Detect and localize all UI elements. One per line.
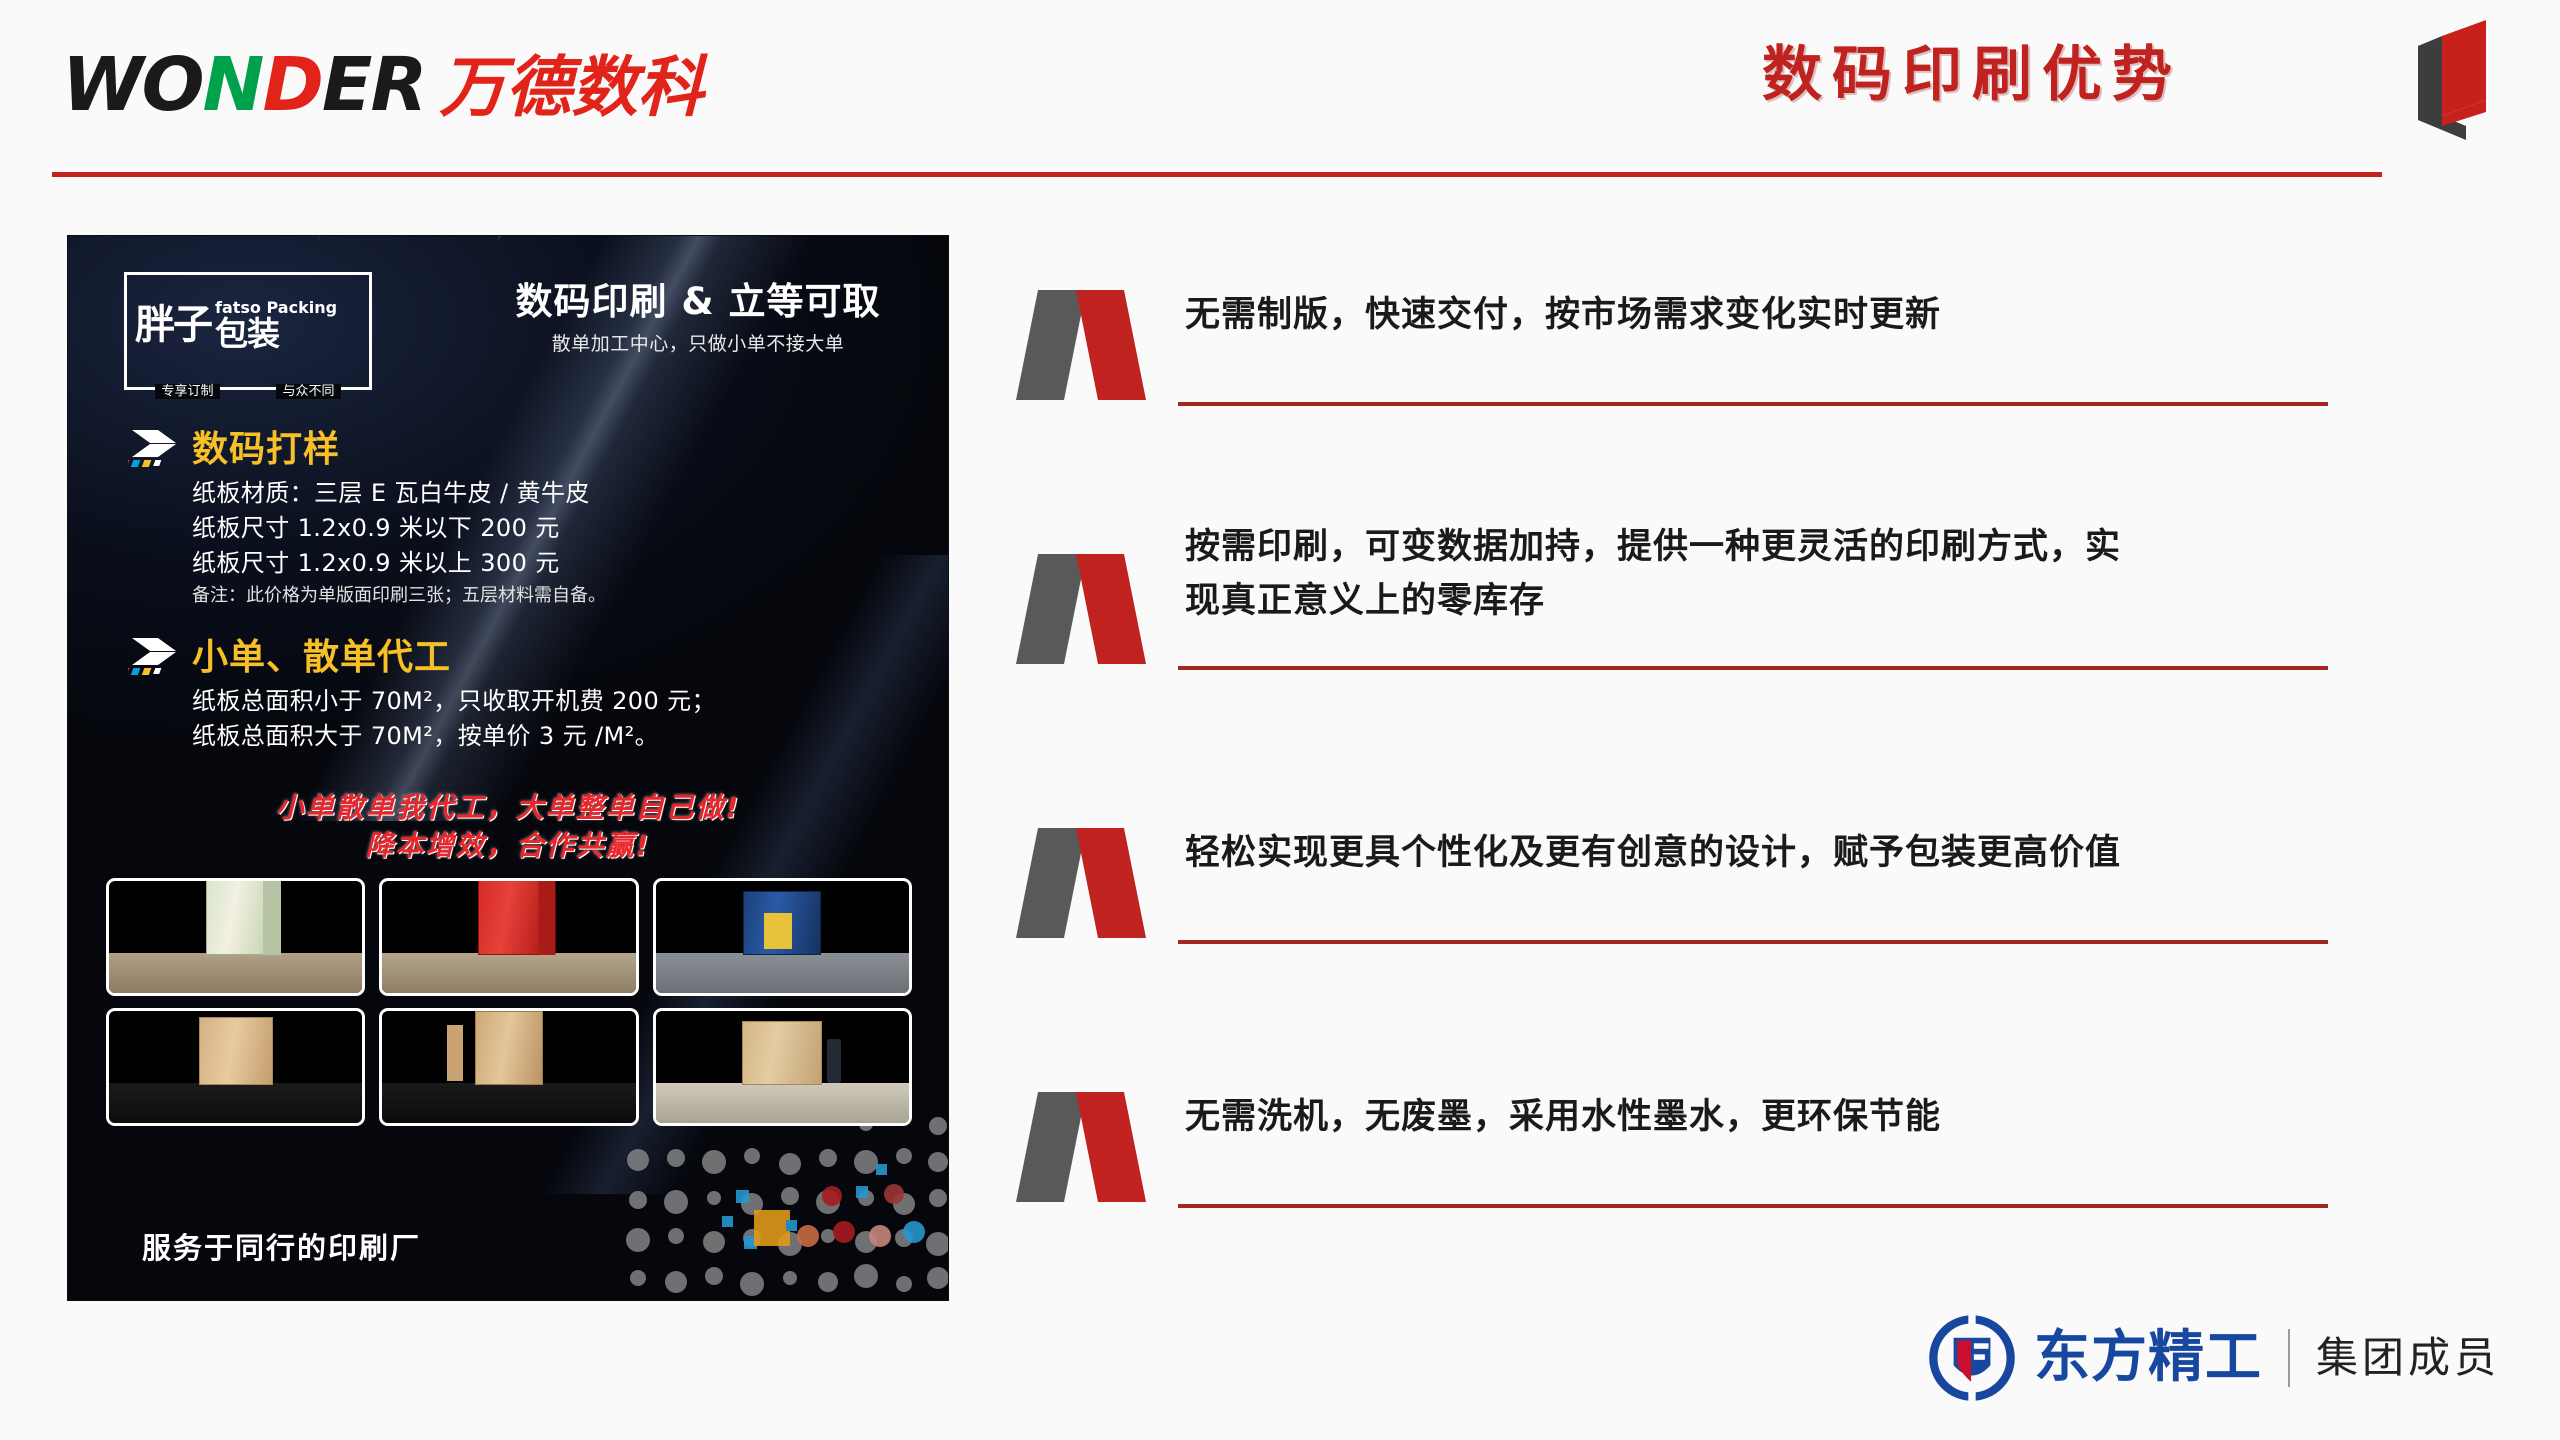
logo-divider [2288,1329,2290,1387]
poster-section-1-title-row: 数码打样 [128,428,928,472]
fatso-logo-main: 胖子 [135,305,211,345]
poster-headline-group: 数码印刷 & 立等可取 散单加工中心，只做小单不接大单 [468,280,928,358]
group-member-label: 集团成员 [2316,1335,2500,1381]
bullet-underline [1178,402,2328,406]
poster-section-small-orders: 小单、散单代工 纸板总面积小于 70M²，只收取开机费 200 元； 纸板总面积… [128,636,928,754]
fatso-packing-logo: 胖子 fatso Packing 包装 专享订制 与众不同 [124,272,372,390]
product-photo-grid [106,878,912,1126]
bullet-item-eco-friendly: 无需洗机，无废墨，采用水性墨水，更环保节能 [1010,1090,2340,1152]
poster-section-1-line-2: 纸板尺寸 1.2x0.9 米以下 200 元 [192,511,928,546]
bullet-line: 轻松实现更具个性化及更有创意的设计，赋予包装更高价值 [1185,826,2340,880]
bullet-line: 无需制版，快速交付，按市场需求变化实时更新 [1185,288,2340,342]
poster-section-1-title: 数码打样 [192,429,340,471]
poster-footer-text: 服务于同行的印刷厂 [142,1230,421,1266]
brand-chinese-name: 万德数科 [439,55,703,121]
wonder-letter-o: O [142,48,203,122]
bullet-item-no-plate-fast-delivery: 无需制版，快速交付，按市场需求变化实时更新 [1010,288,2340,350]
poster-slogan-line-1: 小单散单我代工，大单整单自己做! [68,788,948,828]
double-slash-marker-icon [1010,1090,1190,1210]
product-photo-beef-box [653,878,912,996]
bullet-text: 无需制版，快速交付，按市场需求变化实时更新 [1185,288,2340,350]
page-title: 数码印刷优势 [1762,42,2182,108]
bullet-underline [1178,940,2328,944]
poster-section-1-note: 备注：此价格为单版面印刷三张；五层材料需自备。 [192,581,928,611]
poster-section-1-line-1: 纸板材质：三层 E 瓦白牛皮 / 黄牛皮 [192,476,928,511]
poster-subheadline: 散单加工中心，只做小单不接大单 [468,330,928,358]
wonder-letter-w: W [62,48,142,122]
wonder-letter-n: N [203,48,263,122]
poster-section-2-line-2: 纸板总面积大于 70M²，按单价 3 元 /M²。 [192,719,928,754]
poster-section-2-title-row: 小单、散单代工 [128,636,928,680]
bullet-text: 按需印刷，可变数据加持，提供一种更灵活的印刷方式，实 现真正意义上的零库存 [1185,520,2340,636]
cmyk-arrow-icon [128,636,182,680]
cmyk-arrow-icon [128,428,182,472]
dongfang-circular-shield-icon [1926,1312,2018,1404]
bullet-line: 现真正意义上的零库存 [1185,574,2340,628]
header-divider [52,172,2382,177]
wonder-letter-d: D [262,48,321,122]
bullet-line: 按需印刷，可变数据加持，提供一种更灵活的印刷方式，实 [1185,520,2340,574]
poster-section-2-title: 小单、散单代工 [192,637,451,679]
group-member-logo: 东方精工 集团成员 [1926,1312,2500,1404]
folded-page-icon [2382,8,2502,148]
promo-poster-image: 胖子 fatso Packing 包装 专享订制 与众不同 数码印刷 & 立等可… [68,236,948,1300]
wonder-letter-r: R [370,48,425,122]
wonder-letter-e: E [322,48,371,122]
bullet-text: 轻松实现更具个性化及更有创意的设计，赋予包装更高价值 [1185,826,2340,888]
product-photo-classic-kraft-box [379,1008,638,1126]
fatso-tag-left: 专享订制 [155,384,219,399]
product-photo-honey-gift-box [106,878,365,996]
company-logo: W O N D E R 万德数科 [62,48,703,122]
product-photo-large-box-with-person [653,1008,912,1126]
double-slash-marker-icon [1010,826,1190,946]
bullet-text: 无需洗机，无废墨，采用水性墨水，更环保节能 [1185,1090,2340,1152]
wonder-wordmark: W O N D E R [62,48,425,122]
poster-headline: 数码印刷 & 立等可取 [468,280,928,324]
product-photo-red-gift-box [379,878,638,996]
double-slash-marker-icon [1010,552,1190,672]
group-company-name: 东方精工 [2034,1329,2262,1387]
product-photo-kraft-box [106,1008,365,1126]
poster-section-1-line-3: 纸板尺寸 1.2x0.9 米以上 300 元 [192,546,928,581]
double-slash-marker-icon [1010,288,1190,408]
bullet-item-print-on-demand: 按需印刷，可变数据加持，提供一种更灵活的印刷方式，实 现真正意义上的零库存 [1010,520,2340,636]
bullet-underline [1178,1204,2328,1208]
poster-section-digital-proofing: 数码打样 纸板材质：三层 E 瓦白牛皮 / 黄牛皮 纸板尺寸 1.2x0.9 米… [128,428,928,611]
bullet-item-personalized-design: 轻松实现更具个性化及更有创意的设计，赋予包装更高价值 [1010,826,2340,888]
fatso-tag-right: 与众不同 [276,384,340,399]
bullet-underline [1178,666,2328,670]
bullet-line: 无需洗机，无废墨，采用水性墨水，更环保节能 [1185,1090,2340,1144]
poster-section-2-line-1: 纸板总面积小于 70M²，只收取开机费 200 元； [192,684,928,719]
poster-slogan-line-2: 降本增效，合作共赢! [68,826,948,866]
fatso-logo-sub: 包装 [215,317,337,351]
slide-root: W O N D E R 万德数科 数码印刷优势 胖子 fatso Packing… [0,0,2560,1440]
